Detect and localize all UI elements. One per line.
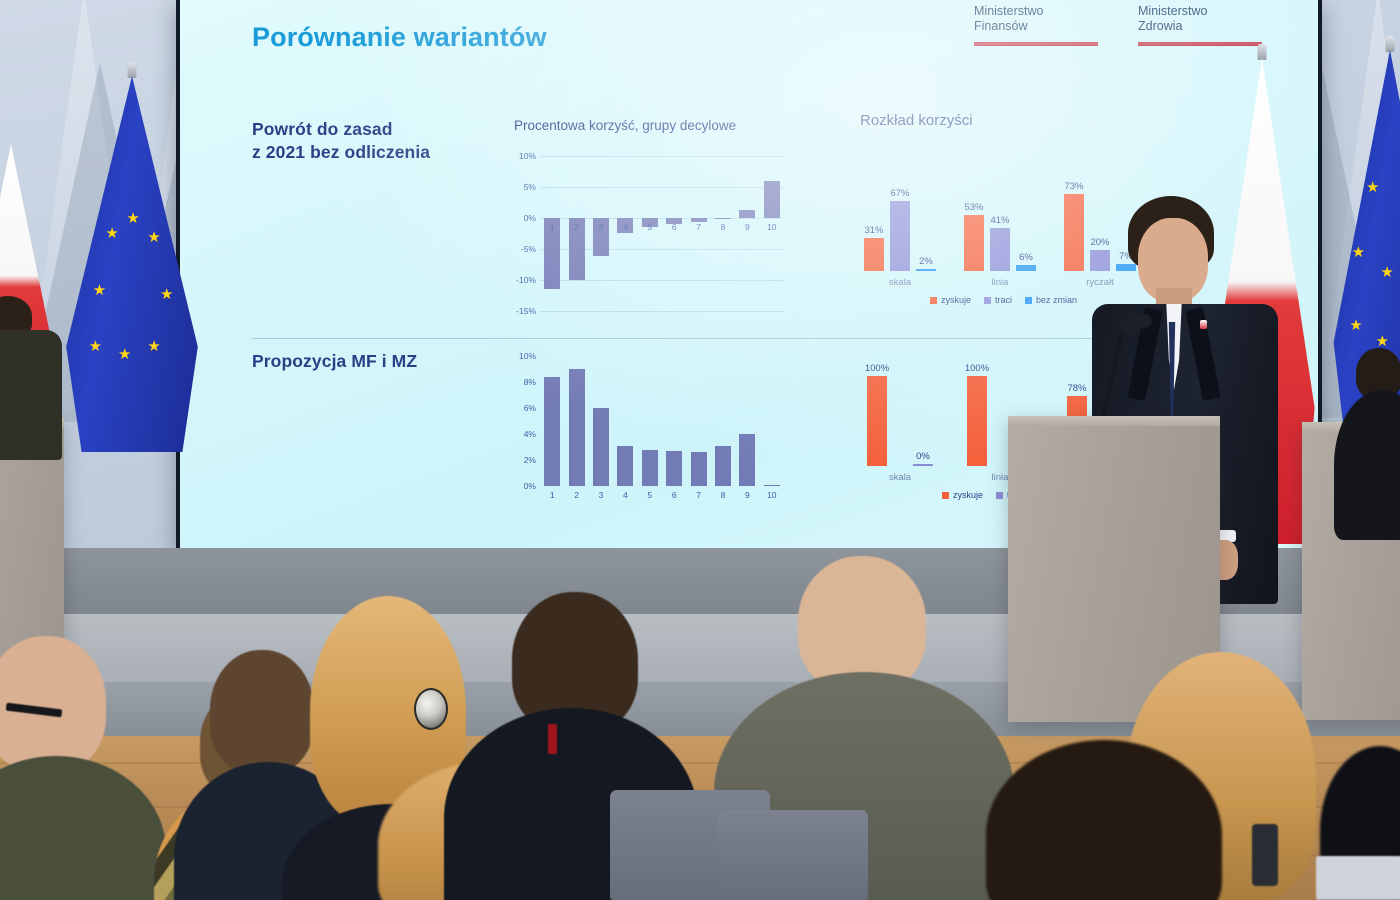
chart-bar: [990, 228, 1010, 271]
ministry-logos: Ministerstwo Finansów Ministerstwo Zdrow…: [974, 4, 1262, 46]
section-heading-line-1: Propozycja MF i MZ: [252, 350, 482, 373]
section-heading-line-2: z 2021 bez odliczenia: [252, 141, 482, 164]
podium-top-surface: [1008, 416, 1220, 426]
chart-bar: [593, 408, 609, 486]
x-axis-tick-label: 8: [713, 222, 733, 232]
figure-right-edge: [1344, 348, 1400, 538]
speaker-lapel-pin: [1200, 320, 1207, 329]
legend-item: bez zmian: [1025, 295, 1077, 305]
legend-label: zyskuje: [953, 490, 983, 500]
x-axis-group-label: linia: [992, 472, 1009, 483]
chart-bar: [642, 450, 658, 486]
chart-bar: [666, 451, 682, 486]
chart-legend: zyskujetracibez zmian: [930, 295, 1077, 305]
y-axis-tick-label: 2%: [510, 455, 536, 465]
chart-bar: [739, 210, 755, 218]
flag-pole-knob: [1258, 44, 1267, 60]
handheld-device: [1316, 856, 1400, 900]
y-axis-tick-label: 10%: [510, 351, 536, 361]
chart-bar: [715, 218, 731, 219]
chart-decile-top: 10%5%0%-5%-10%-15%12345678910: [510, 152, 790, 327]
logo-line-1: Ministerstwo: [974, 4, 1098, 19]
section-heading-top: Powrót do zasad z 2021 bez odliczenia: [252, 118, 482, 165]
x-axis-tick-label: 3: [591, 490, 611, 500]
x-axis-tick-label: 8: [713, 490, 733, 500]
chart-bar: [890, 201, 910, 271]
audience-member: [986, 740, 1226, 900]
chart-value-label: 67%: [890, 188, 909, 199]
chart-bar: [569, 369, 585, 486]
x-axis-group-label: skala: [889, 472, 911, 483]
audience-member: [0, 636, 152, 900]
second-speaker-torso: [0, 330, 62, 460]
flag-pole-knob: [1386, 36, 1395, 52]
chart-bar: [913, 464, 933, 467]
chart-value-label: 0%: [916, 451, 930, 462]
chart-bar: [739, 434, 755, 486]
chart-bar: [764, 485, 780, 486]
x-axis-tick-label: 7: [689, 490, 709, 500]
audience-shoulders: [0, 756, 166, 900]
legend-item: traci: [984, 295, 1012, 305]
legend-swatch: [984, 297, 991, 304]
chart-bar: [864, 238, 884, 271]
x-axis-tick-label: 6: [664, 490, 684, 500]
slide-title: Porównanie wariantów: [252, 22, 547, 53]
x-axis-tick-label: 10: [762, 222, 782, 232]
x-axis-group-label: linia: [992, 277, 1009, 288]
chart-bar: [617, 446, 633, 486]
section-heading-line-1: Powrót do zasad: [252, 118, 482, 141]
chart-value-label: 73%: [1064, 181, 1083, 192]
x-axis-tick-label: 7: [689, 222, 709, 232]
x-axis-tick-label: 5: [640, 490, 660, 500]
x-axis-tick-label: 4: [615, 490, 635, 500]
section-heading-bottom: Propozycja MF i MZ: [252, 350, 482, 373]
audience-hair: [986, 740, 1222, 900]
chart-bar: [1016, 265, 1036, 271]
x-axis-tick-label: 1: [542, 490, 562, 500]
chart-gridline: [540, 156, 784, 157]
logo-ministerstwo-zdrowia: Ministerstwo Zdrowia: [1138, 4, 1262, 46]
chart-bar: [715, 446, 731, 486]
y-axis-tick-label: -10%: [510, 275, 536, 285]
logo-line-2: Finansów: [974, 19, 1098, 34]
logo-ministerstwo-finansow: Ministerstwo Finansów: [974, 4, 1098, 46]
chart-value-label: 2%: [919, 256, 933, 267]
legend-label: bez zmian: [1036, 295, 1077, 305]
audience-head: [210, 650, 314, 774]
chart-bar: [544, 377, 560, 486]
flag-pole-knob: [128, 62, 137, 78]
logo-line-2: Zdrowia: [1138, 19, 1262, 34]
logo-line-1: Ministerstwo: [1138, 4, 1262, 19]
x-axis-tick-label: 10: [762, 490, 782, 500]
y-axis-tick-label: 5%: [510, 182, 536, 192]
legend-swatch: [1025, 297, 1032, 304]
chart-bar: [867, 376, 887, 466]
x-axis-tick-label: 5: [640, 222, 660, 232]
camera-lens: [414, 688, 448, 730]
eu-flag-left: ★ ★ ★ ★ ★ ★ ★ ★: [62, 62, 202, 452]
y-axis-tick-label: 4%: [510, 429, 536, 439]
chart-value-label: 100%: [865, 363, 889, 374]
y-axis-tick-label: 8%: [510, 377, 536, 387]
chart-caption-distribution: Rozkład korzyści: [860, 112, 973, 129]
x-axis-tick-label: 3: [591, 222, 611, 232]
x-axis-tick-label: 2: [567, 222, 587, 232]
chart-value-label: 31%: [864, 225, 883, 236]
legend-item: zyskuje: [942, 490, 983, 500]
x-axis-tick-label: 4: [615, 222, 635, 232]
chart-value-label: 6%: [1019, 252, 1033, 263]
chart-gridline: [540, 280, 784, 281]
eu-flag-cloth: ★ ★ ★ ★ ★ ★ ★ ★: [62, 76, 202, 452]
chart-bar: [764, 181, 780, 218]
chart-value-label: 78%: [1067, 383, 1086, 394]
chart-caption-decile: Procentowa korzyść, grupy decylowe: [514, 118, 736, 133]
x-axis-tick-label: 1: [542, 222, 562, 232]
y-axis-tick-label: -15%: [510, 306, 536, 316]
x-axis-tick-label: 9: [737, 490, 757, 500]
legend-label: traci: [995, 295, 1012, 305]
y-axis-tick-label: 0%: [510, 481, 536, 491]
legend-item: zyskuje: [930, 295, 971, 305]
legend-swatch: [930, 297, 937, 304]
second-speaker-left: [0, 296, 66, 476]
legend-swatch: [996, 492, 1003, 499]
chart-value-label: 100%: [965, 363, 989, 374]
press-conference-photo: Porównanie wariantów Ministerstwo Finans…: [0, 0, 1400, 900]
x-axis-tick-label: 6: [664, 222, 684, 232]
chart-value-label: 53%: [964, 202, 983, 213]
chart-value-label: 41%: [990, 215, 1009, 226]
logo-rule: [974, 42, 1098, 46]
x-axis-tick-label: 2: [567, 490, 587, 500]
chart-bar: [1064, 194, 1084, 271]
x-axis-group-label: skala: [889, 277, 911, 288]
chart-bar: [691, 452, 707, 486]
x-axis-tick-label: 9: [737, 222, 757, 232]
legend-label: zyskuje: [941, 295, 971, 305]
chart-bar: [964, 215, 984, 271]
jacket-detail: [548, 724, 557, 754]
chair-back: [718, 810, 868, 900]
y-axis-tick-label: 10%: [510, 151, 536, 161]
legend-swatch: [942, 492, 949, 499]
y-axis-tick-label: -5%: [510, 244, 536, 254]
chart-gridline: [540, 311, 784, 312]
chart-decile-bottom: 10%8%6%4%2%0%12345678910: [510, 352, 790, 502]
microphone-handheld: [1252, 824, 1278, 886]
chart-bar: [967, 376, 987, 466]
chart-gridline: [540, 187, 784, 188]
y-axis-tick-label: 6%: [510, 403, 536, 413]
y-axis-tick-label: 0%: [510, 213, 536, 223]
chart-bar: [916, 269, 936, 272]
